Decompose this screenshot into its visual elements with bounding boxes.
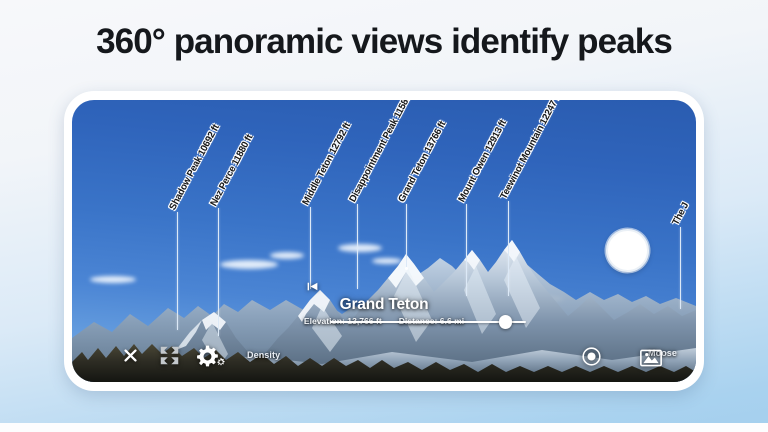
phone-mockup: Shadow Peak 10692 ft Nez Perce 11880 ft …: [64, 91, 704, 391]
skip-to-start-icon[interactable]: [306, 280, 319, 298]
peak-leader-line: [406, 204, 407, 267]
peak-leader-line: [680, 227, 681, 309]
app-screen: Shadow Peak 10692 ft Nez Perce 11880 ft …: [72, 100, 696, 382]
close-icon[interactable]: [122, 347, 139, 364]
slider-track: [330, 321, 526, 324]
page-bottom-strip: [0, 423, 768, 432]
peak-leader-line: [218, 208, 219, 336]
expand-icon[interactable]: [159, 345, 180, 366]
slider-knob[interactable]: [499, 315, 513, 329]
selected-peak-name: Grand Teton: [254, 296, 514, 314]
peak-leader-line: [466, 204, 467, 296]
peak-leader-line: [357, 204, 358, 289]
peak-leader-line: [310, 207, 311, 289]
locate-icon[interactable]: [581, 346, 602, 367]
shutter-button[interactable]: [606, 229, 649, 272]
page-headline: 360° panoramic views identify peaks: [0, 22, 768, 62]
bottom-toolbar: [72, 324, 696, 382]
gallery-icon[interactable]: [640, 349, 662, 367]
peak-leader-line: [508, 201, 509, 296]
density-slider[interactable]: [330, 315, 526, 329]
settings-icon[interactable]: [195, 344, 225, 369]
peak-leader-line: [177, 212, 178, 330]
